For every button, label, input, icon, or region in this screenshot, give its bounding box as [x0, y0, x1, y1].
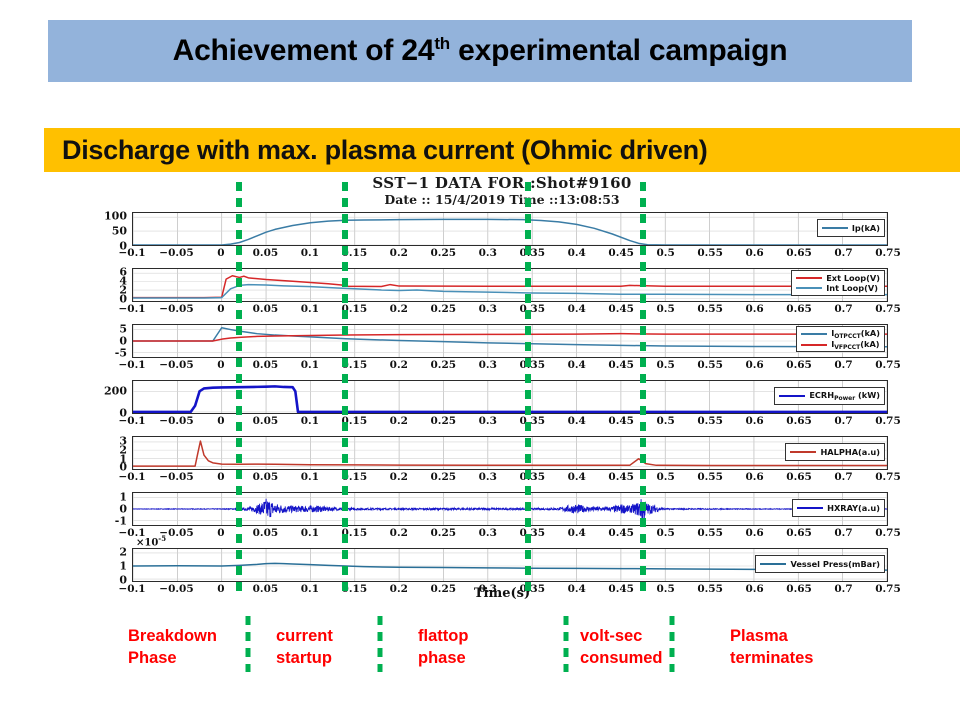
- x-tick-label: 0.3: [479, 415, 497, 427]
- legend-label: Ip(kA): [852, 223, 880, 233]
- y-tick-label: 1: [119, 560, 127, 573]
- x-tick-label: 0.25: [430, 527, 456, 539]
- x-axis-ticks-ip: −0.1−0.0500.050.10.150.20.250.30.350.40.…: [132, 246, 888, 263]
- legend-item: ECRHPower (kW): [779, 391, 880, 402]
- x-tick-label: 0.5: [657, 527, 675, 539]
- x-tick-label: 0.45: [608, 471, 634, 483]
- axis-multiplier: ×10-5: [136, 534, 166, 548]
- x-tick-label: 0.3: [479, 247, 497, 259]
- annotation-line-2: Phase: [128, 648, 217, 670]
- x-tick-label: 0.7: [834, 247, 852, 259]
- legend-item: Vessel Press(mBar): [760, 559, 880, 570]
- x-tick-label: 0.05: [253, 471, 279, 483]
- x-tick-label: 0.75: [875, 471, 901, 483]
- x-tick-label: 0.05: [253, 359, 279, 371]
- x-tick-label: 0.55: [697, 527, 723, 539]
- y-axis-ticks-hxray: -101: [86, 492, 132, 526]
- subplot-pf-currents: -505−0.1−0.0500.050.10.150.20.250.30.350…: [132, 324, 888, 358]
- x-axis-ticks-loop-voltage: −0.1−0.0500.050.10.150.20.250.30.350.40.…: [132, 302, 888, 319]
- x-tick-label: −0.1: [118, 303, 145, 315]
- legend-item: HXRAY(a.u): [797, 503, 880, 514]
- x-tick-label: 0.55: [697, 303, 723, 315]
- y-tick-label: 50: [112, 225, 127, 238]
- subtitle-bar: Discharge with max. plasma current (Ohmi…: [44, 128, 960, 172]
- x-tick-label: 0.5: [657, 303, 675, 315]
- x-tick-label: 0.15: [342, 471, 368, 483]
- y-axis-ticks-loop-voltage: 0246: [86, 268, 132, 302]
- x-tick-label: 0.4: [568, 247, 586, 259]
- x-tick-label: 0.2: [390, 303, 408, 315]
- annotation-line-1: volt-sec: [580, 626, 663, 648]
- x-tick-label: 0.25: [430, 247, 456, 259]
- legend-item: IVFPCCT(kA): [801, 339, 880, 350]
- x-tick-label: 0.45: [608, 415, 634, 427]
- subtitle-text: Discharge with max. plasma current (Ohmi…: [44, 135, 708, 166]
- y-axis-ticks-ecrh: 0200: [86, 380, 132, 414]
- legend-item: Int Loop(V): [796, 283, 880, 293]
- x-tick-label: −0.05: [159, 415, 193, 427]
- page-title: Achievement of 24th experimental campaig…: [173, 34, 788, 68]
- legend-label: Vessel Press(mBar): [790, 559, 880, 569]
- x-axis-ticks-hxray: −0.1−0.0500.050.10.150.20.250.30.350.40.…: [132, 526, 888, 543]
- x-tick-label: 0.05: [253, 527, 279, 539]
- x-tick-label: 0.35: [519, 471, 545, 483]
- x-tick-label: 0.05: [253, 303, 279, 315]
- legend-halpha[interactable]: HALPHA(a.u): [785, 443, 885, 461]
- x-tick-label: 0.6: [745, 303, 763, 315]
- x-tick-label: 0.2: [390, 527, 408, 539]
- x-tick-label: 0.4: [568, 303, 586, 315]
- legend-label: HXRAY(a.u): [827, 503, 880, 513]
- y-tick-label: -5: [115, 347, 127, 360]
- x-tick-label: 0.75: [875, 415, 901, 427]
- x-tick-label: 0.55: [697, 359, 723, 371]
- x-tick-label: 0.4: [568, 415, 586, 427]
- x-tick-label: 0.5: [657, 247, 675, 259]
- legend-swatch: [796, 287, 822, 289]
- y-axis-ticks-ip: 050100: [86, 212, 132, 246]
- x-tick-label: 0.25: [430, 303, 456, 315]
- x-tick-label: 0.75: [875, 527, 901, 539]
- x-tick-label: −0.1: [118, 415, 145, 427]
- title-ordinal-suffix: th: [434, 34, 450, 53]
- x-tick-label: 0.35: [519, 415, 545, 427]
- legend-item: IOTPCCT(kA): [801, 328, 880, 339]
- x-tick-label: 0: [217, 415, 224, 427]
- annotation-marker-line: [670, 616, 675, 672]
- x-tick-label: 0.65: [786, 471, 812, 483]
- x-tick-label: 0.45: [608, 527, 634, 539]
- legend-swatch: [801, 333, 827, 335]
- legend-swatch: [779, 395, 805, 397]
- x-tick-label: 0: [217, 247, 224, 259]
- x-tick-label: 0: [217, 471, 224, 483]
- x-tick-label: −0.05: [159, 247, 193, 259]
- plot-area-loop-voltage: [132, 268, 888, 302]
- x-tick-label: 0.5: [657, 359, 675, 371]
- annotation-marker-line: [564, 616, 569, 672]
- x-axis-label: Time(s): [44, 586, 960, 601]
- x-tick-label: 0.25: [430, 359, 456, 371]
- legend-label: Ext Loop(V): [826, 273, 880, 283]
- annotation-line-1: Breakdown: [128, 626, 217, 648]
- x-tick-label: 0.75: [875, 303, 901, 315]
- phase-annotation: Plasmaterminates: [730, 626, 813, 670]
- x-tick-label: 0.2: [390, 247, 408, 259]
- legend-ecrh[interactable]: ECRHPower (kW): [774, 387, 885, 405]
- legend-ip[interactable]: Ip(kA): [817, 219, 885, 237]
- y-tick-label: 2: [119, 546, 127, 559]
- subplot-ip: 050100−0.1−0.0500.050.10.150.20.250.30.3…: [132, 212, 888, 246]
- x-tick-label: 0.55: [697, 471, 723, 483]
- x-tick-label: 0.5: [657, 415, 675, 427]
- plot-area-hxray: [132, 492, 888, 526]
- x-tick-label: 0.2: [390, 471, 408, 483]
- phase-annotations: BreakdownPhasecurrentstartupflattopphase…: [44, 616, 960, 686]
- annotation-line-2: terminates: [730, 648, 813, 670]
- legend-label: ECRHPower (kW): [809, 390, 880, 402]
- x-tick-label: 0.75: [875, 247, 901, 259]
- multiplier-exponent: -5: [158, 534, 166, 543]
- x-tick-label: 0.65: [786, 527, 812, 539]
- y-axis-ticks-halpha: 0123: [86, 436, 132, 470]
- annotation-line-1: flattop: [418, 626, 468, 648]
- figure-title: SST−1 DATA FOR :Shot#9160: [44, 174, 960, 192]
- legend-item: Ext Loop(V): [796, 273, 880, 283]
- x-tick-label: 0.15: [342, 527, 368, 539]
- x-tick-label: 0.05: [253, 415, 279, 427]
- x-tick-label: 0.1: [301, 415, 319, 427]
- x-tick-label: 0: [217, 359, 224, 371]
- plot-area-halpha: [132, 436, 888, 470]
- x-tick-label: 0.7: [834, 527, 852, 539]
- x-tick-label: 0.25: [430, 471, 456, 483]
- y-tick-label: 100: [104, 210, 127, 223]
- x-tick-label: 0.65: [786, 303, 812, 315]
- y-tick-label: 0: [119, 503, 127, 516]
- legend-vessel-pressure[interactable]: Vessel Press(mBar): [755, 555, 885, 573]
- x-tick-label: 0.05: [253, 247, 279, 259]
- x-tick-label: 0.6: [745, 247, 763, 259]
- x-tick-label: 0: [217, 527, 224, 539]
- annotation-line-2: phase: [418, 648, 468, 670]
- x-tick-label: 0.7: [834, 415, 852, 427]
- subplot-hxray: -101−0.1−0.0500.050.10.150.20.250.30.350…: [132, 492, 888, 526]
- annotation-marker-line: [378, 616, 383, 672]
- x-tick-label: 0.1: [301, 471, 319, 483]
- x-tick-label: 0.65: [786, 247, 812, 259]
- phase-annotation: BreakdownPhase: [128, 626, 217, 670]
- figure-subtitle: Date :: 15/4/2019 Time ::13:08:53: [44, 192, 960, 207]
- phase-annotation: flattopphase: [418, 626, 468, 670]
- x-tick-label: 0.45: [608, 303, 634, 315]
- y-tick-label: 3: [119, 435, 127, 448]
- x-tick-label: 0.7: [834, 471, 852, 483]
- x-tick-label: 0.1: [301, 527, 319, 539]
- x-tick-label: 0.35: [519, 359, 545, 371]
- annotation-marker-line: [246, 616, 251, 672]
- title-suffix: experimental campaign: [450, 34, 787, 67]
- x-tick-label: 0.6: [745, 527, 763, 539]
- x-tick-label: 0.4: [568, 359, 586, 371]
- x-tick-label: 0.45: [608, 247, 634, 259]
- x-tick-label: −0.1: [118, 247, 145, 259]
- x-tick-label: 0.65: [786, 415, 812, 427]
- x-tick-label: 0.3: [479, 359, 497, 371]
- x-tick-label: 0.1: [301, 359, 319, 371]
- x-tick-label: 0.15: [342, 303, 368, 315]
- subplot-vessel-pressure: 012−0.1−0.0500.050.10.150.20.250.30.350.…: [132, 548, 888, 582]
- annotation-line-2: consumed: [580, 648, 663, 670]
- legend-label: IVFPCCT(kA): [831, 339, 879, 351]
- x-axis-ticks-pf-currents: −0.1−0.0500.050.10.150.20.250.30.350.40.…: [132, 358, 888, 375]
- legend-item: Ip(kA): [822, 223, 880, 234]
- legend-swatch: [801, 344, 827, 346]
- x-tick-label: −0.1: [118, 471, 145, 483]
- legend-swatch: [760, 563, 786, 565]
- legend-hxray[interactable]: HXRAY(a.u): [792, 499, 885, 517]
- x-tick-label: 0.4: [568, 471, 586, 483]
- plot-area-ip: [132, 212, 888, 246]
- legend-loop-voltage[interactable]: Ext Loop(V)Int Loop(V): [791, 270, 885, 296]
- x-tick-label: 0.35: [519, 527, 545, 539]
- x-tick-label: 0: [217, 303, 224, 315]
- x-tick-label: 0.4: [568, 527, 586, 539]
- x-tick-label: 0.6: [745, 471, 763, 483]
- subplot-loop-voltage: 0246−0.1−0.0500.050.10.150.20.250.30.350…: [132, 268, 888, 302]
- annotation-line-1: current: [276, 626, 333, 648]
- subplot-ecrh: 0200−0.1−0.0500.050.10.150.20.250.30.350…: [132, 380, 888, 414]
- y-tick-label: 6: [119, 266, 127, 279]
- x-tick-label: −0.05: [159, 471, 193, 483]
- x-tick-label: 0.1: [301, 303, 319, 315]
- legend-label: HALPHA(a.u): [820, 447, 880, 457]
- figure-panel: SST−1 DATA FOR :Shot#9160 Date :: 15/4/2…: [44, 172, 960, 672]
- x-tick-label: 0.15: [342, 359, 368, 371]
- slide-title-banner: Achievement of 24th experimental campaig…: [48, 20, 912, 82]
- x-tick-label: 0.35: [519, 247, 545, 259]
- x-tick-label: 0.5: [657, 471, 675, 483]
- multiplier-base: ×10: [136, 537, 158, 548]
- x-tick-label: 0.25: [430, 415, 456, 427]
- x-tick-label: 0.6: [745, 359, 763, 371]
- x-tick-label: 0.7: [834, 359, 852, 371]
- x-tick-label: 0.3: [479, 471, 497, 483]
- legend-item: HALPHA(a.u): [790, 447, 880, 458]
- x-tick-label: 0.15: [342, 415, 368, 427]
- x-tick-label: 0.35: [519, 303, 545, 315]
- plot-area-pf-currents: [132, 324, 888, 358]
- x-tick-label: 0.2: [390, 415, 408, 427]
- y-axis-ticks-vessel-pressure: 012: [86, 548, 132, 582]
- x-tick-label: 0.65: [786, 359, 812, 371]
- y-tick-label: 5: [119, 322, 127, 335]
- y-tick-label: 1: [119, 490, 127, 503]
- x-axis-ticks-halpha: −0.1−0.0500.050.10.150.20.250.30.350.40.…: [132, 470, 888, 487]
- x-tick-label: 0.7: [834, 303, 852, 315]
- x-tick-label: 0.15: [342, 247, 368, 259]
- title-prefix: Achievement of 24: [173, 34, 435, 67]
- x-tick-label: 0.6: [745, 415, 763, 427]
- x-tick-label: 0.45: [608, 359, 634, 371]
- legend-swatch: [797, 507, 823, 509]
- x-tick-label: −0.05: [159, 359, 193, 371]
- annotation-line-2: startup: [276, 648, 333, 670]
- x-tick-label: −0.05: [159, 303, 193, 315]
- legend-swatch: [822, 227, 848, 229]
- x-tick-label: 0.3: [479, 303, 497, 315]
- x-tick-label: −0.1: [118, 359, 145, 371]
- phase-annotation: volt-secconsumed: [580, 626, 663, 670]
- y-tick-label: 200: [104, 384, 127, 397]
- legend-pf-currents[interactable]: IOTPCCT(kA)IVFPCCT(kA): [796, 326, 885, 352]
- y-tick-label: -1: [115, 515, 127, 528]
- y-axis-ticks-pf-currents: -505: [86, 324, 132, 358]
- legend-label: Int Loop(V): [826, 283, 878, 293]
- phase-annotation: currentstartup: [276, 626, 333, 670]
- subplot-halpha: 0123−0.1−0.0500.050.10.150.20.250.30.350…: [132, 436, 888, 470]
- y-tick-label: 0: [119, 335, 127, 348]
- legend-swatch: [796, 277, 822, 279]
- x-tick-label: 0.1: [301, 247, 319, 259]
- annotation-line-1: Plasma: [730, 626, 813, 648]
- x-axis-ticks-ecrh: −0.1−0.0500.050.10.150.20.250.30.350.40.…: [132, 414, 888, 431]
- x-tick-label: 0.75: [875, 359, 901, 371]
- x-tick-label: 0.3: [479, 527, 497, 539]
- x-tick-label: 0.55: [697, 247, 723, 259]
- x-tick-label: 0.2: [390, 359, 408, 371]
- legend-swatch: [790, 451, 816, 453]
- x-tick-label: 0.55: [697, 415, 723, 427]
